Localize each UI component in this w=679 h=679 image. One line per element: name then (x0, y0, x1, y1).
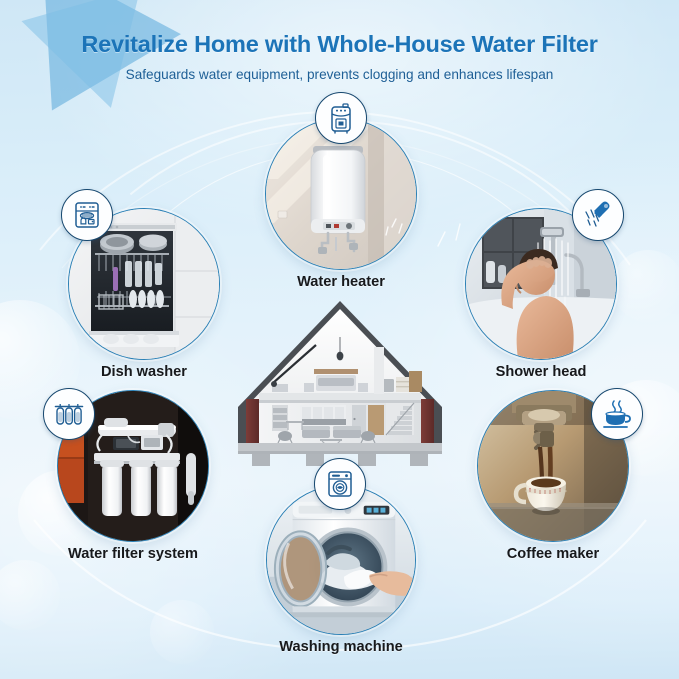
house-cutaway-illustration (228, 295, 452, 480)
feature-washing-machine[interactable]: Washing machine (266, 485, 416, 635)
feature-water-heater[interactable]: Water heater (265, 118, 417, 270)
coffee-cup-icon (591, 388, 643, 440)
bokeh-circle (0, 560, 60, 630)
feature-label-shower-head: Shower head (496, 364, 587, 380)
header: Revitalize Home with Whole-House Water F… (0, 0, 679, 82)
feature-label-water-filter-system: Water filter system (68, 546, 198, 562)
dishwasher-icon (61, 189, 113, 241)
bokeh-circle (612, 250, 679, 322)
feature-dish-washer[interactable]: Dish washer (68, 208, 220, 360)
washing-machine-icon (314, 458, 366, 510)
feature-shower-head[interactable]: Shower head (465, 208, 617, 360)
feature-label-washing-machine: Washing machine (279, 639, 403, 655)
feature-label-coffee-maker: Coffee maker (507, 546, 599, 562)
feature-label-water-heater: Water heater (297, 274, 385, 290)
page-subtitle: Safeguards water equipment, prevents clo… (0, 58, 679, 82)
page-title: Revitalize Home with Whole-House Water F… (0, 0, 679, 58)
bokeh-circle (150, 600, 214, 664)
feature-water-filter-system[interactable]: Water filter system (57, 390, 209, 542)
infographic-poster: Revitalize Home with Whole-House Water F… (0, 0, 679, 679)
filter-cartridges-icon (43, 388, 95, 440)
feature-label-dish-washer: Dish washer (101, 364, 187, 380)
shower-head-icon (572, 189, 624, 241)
water-heater-icon (315, 92, 367, 144)
feature-coffee-maker[interactable]: Coffee maker (477, 390, 629, 542)
